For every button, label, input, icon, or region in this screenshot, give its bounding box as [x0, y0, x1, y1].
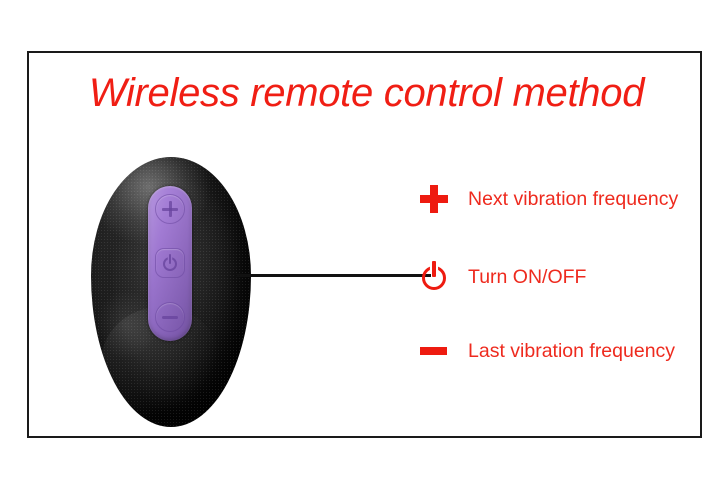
legend-item-last-frequency: Last vibration frequency	[412, 334, 675, 368]
legend-item-power: Turn ON/OFF	[412, 260, 586, 294]
legend-label-next-frequency: Next vibration frequency	[468, 188, 678, 210]
legend-label-last-frequency: Last vibration frequency	[468, 340, 675, 362]
plus-icon	[412, 182, 456, 216]
device-power-button[interactable]	[155, 248, 185, 278]
power-icon-bar	[169, 254, 172, 264]
minus-icon	[162, 316, 178, 319]
plus-icon-vertical-bar	[430, 185, 438, 213]
power-icon-bar	[432, 261, 436, 277]
page-title: Wireless remote control method	[29, 70, 704, 116]
legend-item-next-frequency: Next vibration frequency	[412, 182, 678, 216]
plus-icon-vertical	[169, 201, 172, 217]
remote-control-device[interactable]	[91, 157, 251, 427]
callout-leader-line	[236, 274, 431, 277]
legend-label-power: Turn ON/OFF	[468, 266, 586, 288]
device-button-panel	[148, 186, 192, 341]
minus-icon-bar	[420, 347, 447, 355]
minus-icon	[412, 334, 456, 368]
device-minus-button[interactable]	[155, 302, 185, 332]
power-icon	[412, 260, 456, 294]
device-plus-button[interactable]	[155, 194, 185, 224]
diagram-frame: Wireless remote control method	[27, 51, 702, 438]
